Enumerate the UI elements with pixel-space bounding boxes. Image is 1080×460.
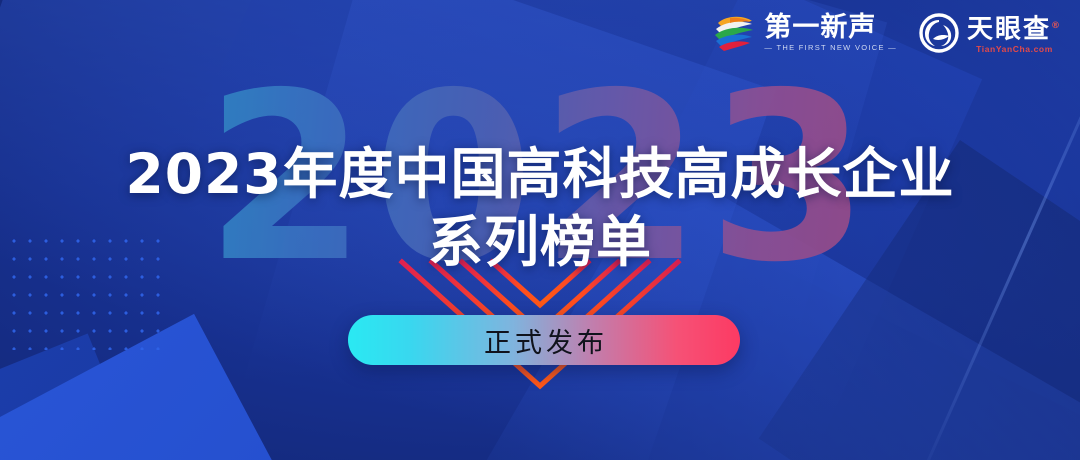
- logo-diyi-xinsheng-tagline: — THE FIRST NEW VOICE —: [764, 42, 897, 53]
- release-cta-label: 正式发布: [480, 321, 608, 360]
- logo-tianyancha-tagline: TianYanCha.com: [967, 44, 1062, 55]
- logo-tianyancha[interactable]: 天眼查® TianYanCha.com: [919, 12, 1062, 55]
- logo-tianyancha-text: 天眼查® TianYanCha.com: [967, 12, 1062, 55]
- header-logo-group: 第一新声 — THE FIRST NEW VOICE — 天眼查® TianYa…: [712, 12, 1062, 55]
- logo-diyi-xinsheng-name: 第一新声: [764, 13, 897, 42]
- logo-diyi-xinsheng-text: 第一新声 — THE FIRST NEW VOICE —: [764, 13, 897, 53]
- hero-title-line-2: 系列榜单: [0, 208, 1080, 276]
- logo-tianyancha-name-cn: 天眼查: [967, 15, 1051, 45]
- promo-banner: 2023 2023年度中国高科技高成长企业 系列榜单: [0, 0, 1080, 460]
- background-facet-bottom-left-2: [0, 333, 260, 460]
- hero-title-line-1: 2023年度中国高科技高成长企业: [0, 140, 1080, 208]
- logo-tianyancha-trademark: ®: [1051, 21, 1062, 31]
- release-cta-button[interactable]: 正式发布: [348, 315, 740, 365]
- logo-diyi-xinsheng[interactable]: 第一新声 — THE FIRST NEW VOICE —: [712, 13, 897, 53]
- logo-tianyancha-name: 天眼查®: [967, 12, 1062, 44]
- hero-title-block: 2023年度中国高科技高成长企业 系列榜单: [0, 140, 1080, 276]
- eye-lens-logo-icon: [919, 13, 959, 53]
- swirl-ribbon-logo-icon: [712, 13, 756, 53]
